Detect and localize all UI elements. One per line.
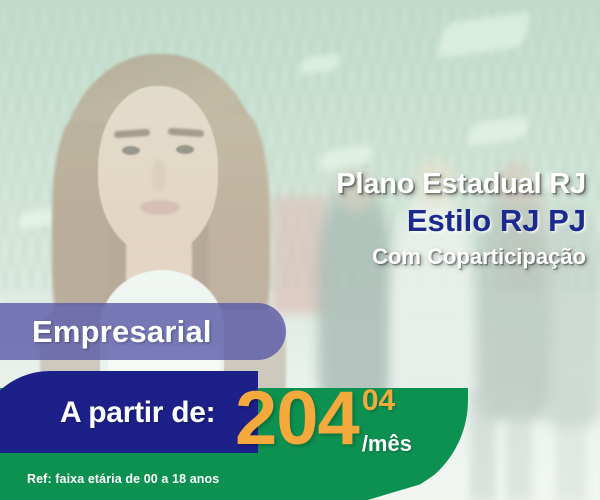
eye-right (176, 145, 194, 154)
plan-title: Plano Estadual RJ (166, 168, 586, 200)
price-prefix-label: A partir de: (60, 396, 215, 430)
price-suffix-group: 04 /mês (362, 386, 412, 455)
headline-group: Plano Estadual RJ Estilo RJ PJ Com Copar… (166, 168, 586, 270)
background-person-legs (506, 390, 532, 500)
segment-badge: Empresarial (0, 303, 286, 360)
plan-coparticipation-note: Com Coparticipação (166, 244, 586, 270)
promo-banner: Plano Estadual RJ Estilo RJ PJ Com Copar… (0, 0, 600, 500)
age-range-footnote: Ref: faixa etária de 00 a 18 anos (27, 472, 219, 486)
background-person-legs (556, 382, 586, 500)
eye-left (122, 146, 140, 155)
price-cents: 04 (362, 386, 395, 416)
price-period: /mês (362, 433, 412, 455)
segment-badge-label: Empresarial (32, 314, 212, 350)
background-person-legs (470, 390, 496, 500)
price-display: 204 04 /mês (235, 384, 412, 455)
price-integer: 204 (235, 384, 359, 454)
nose (152, 160, 166, 192)
plan-subtitle: Estilo RJ PJ (166, 202, 586, 239)
